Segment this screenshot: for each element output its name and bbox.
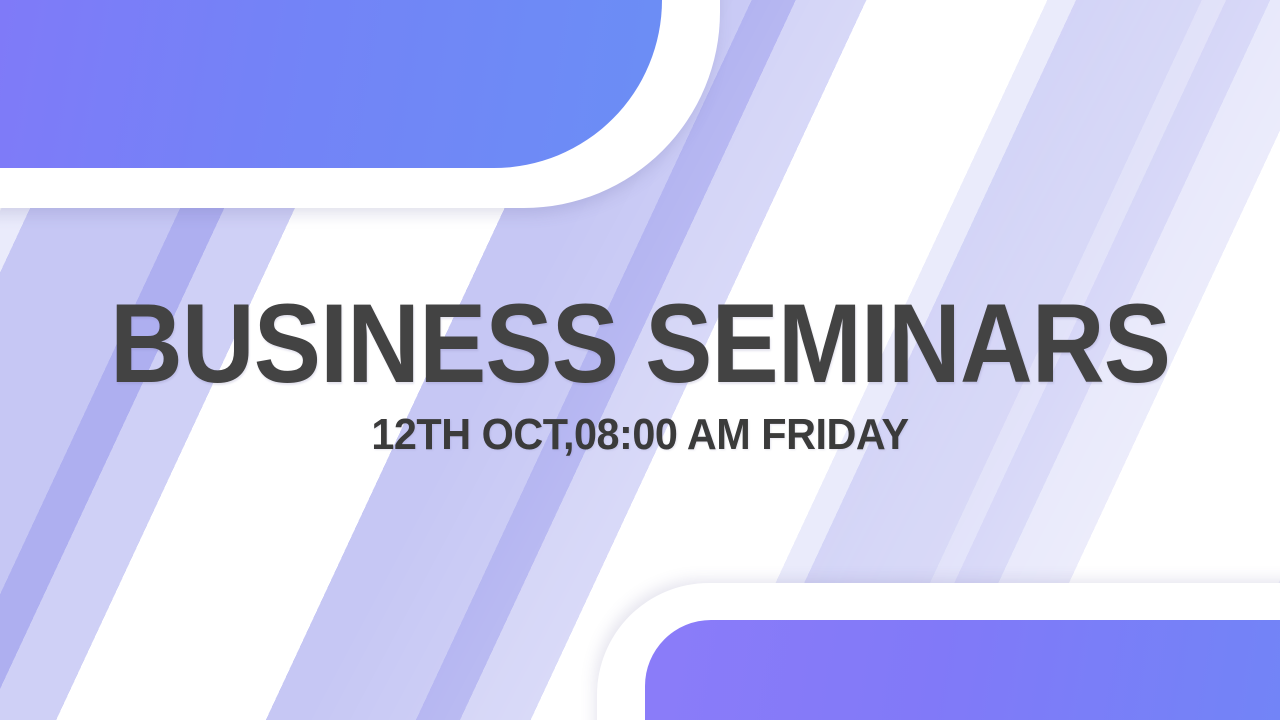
page-title: BUSINESS SEMINARS <box>64 296 1216 392</box>
event-poster: BUSINESS SEMINARS 12TH OCT,08:00 AM FRID… <box>0 0 1280 720</box>
headline-block: BUSINESS SEMINARS 12TH OCT,08:00 AM FRID… <box>0 296 1280 458</box>
top-left-gradient-panel <box>0 0 662 168</box>
event-datetime-subtitle: 12TH OCT,08:00 AM FRIDAY <box>38 412 1241 458</box>
bottom-right-gradient-panel <box>645 620 1280 720</box>
